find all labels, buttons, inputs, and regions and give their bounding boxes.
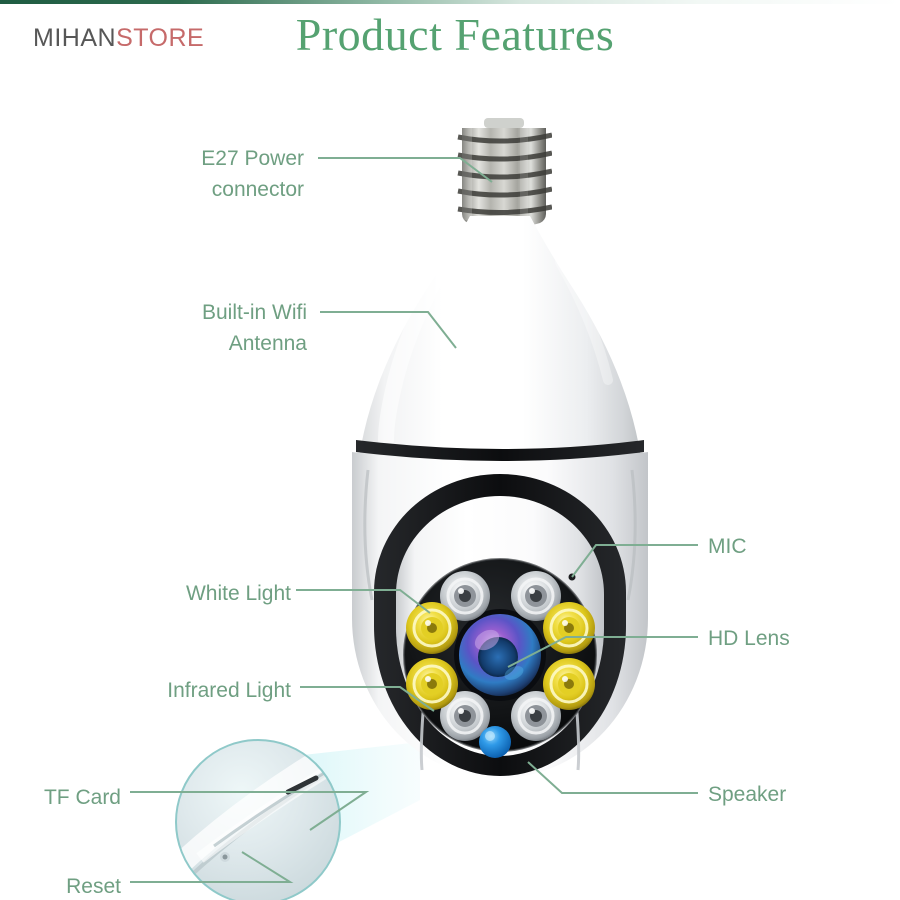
callout-line-1: Speaker [708,779,818,810]
callout-tf-card: TF Card [37,782,121,813]
callout-line-1: MIC [708,531,768,562]
led-infrared-upper-right [543,602,595,654]
callout-hd-lens: HD Lens [708,623,818,654]
callout-line-1: White Light [181,578,291,609]
callout-line-1: Built-in Wifi [198,297,307,328]
callout-speaker: Speaker [708,779,818,810]
callout-built-in-wifi-antenna: Built-in Wifi Antenna [198,297,307,359]
magnifier-inset [176,740,340,900]
callout-e27-power-connector: E27 Power connector [196,143,304,205]
callout-mic: MIC [708,531,768,562]
callout-line-2: Antenna [198,328,307,359]
mic-pinhole [569,574,576,581]
led-infrared-lower-left [406,658,458,710]
product-illustration [0,0,900,900]
callout-reset: Reset [63,871,121,900]
hd-lens [454,609,546,701]
callout-line-1: HD Lens [708,623,818,654]
callout-line-1: TF Card [37,782,121,813]
led-infrared-lower-right [543,658,595,710]
e27-screw-base [458,118,552,232]
callout-line-1: E27 Power [196,143,304,174]
product-features-infographic: MIHANSTORE Product Features [0,0,900,900]
callout-line-1: Reset [63,871,121,900]
callout-infrared-light: Infrared Light [165,675,291,706]
callout-line-1: Infrared Light [165,675,291,706]
status-indicator-led [479,726,511,758]
callout-line-2: connector [196,174,304,205]
callout-white-light: White Light [181,578,291,609]
led-infrared-upper-left [406,602,458,654]
